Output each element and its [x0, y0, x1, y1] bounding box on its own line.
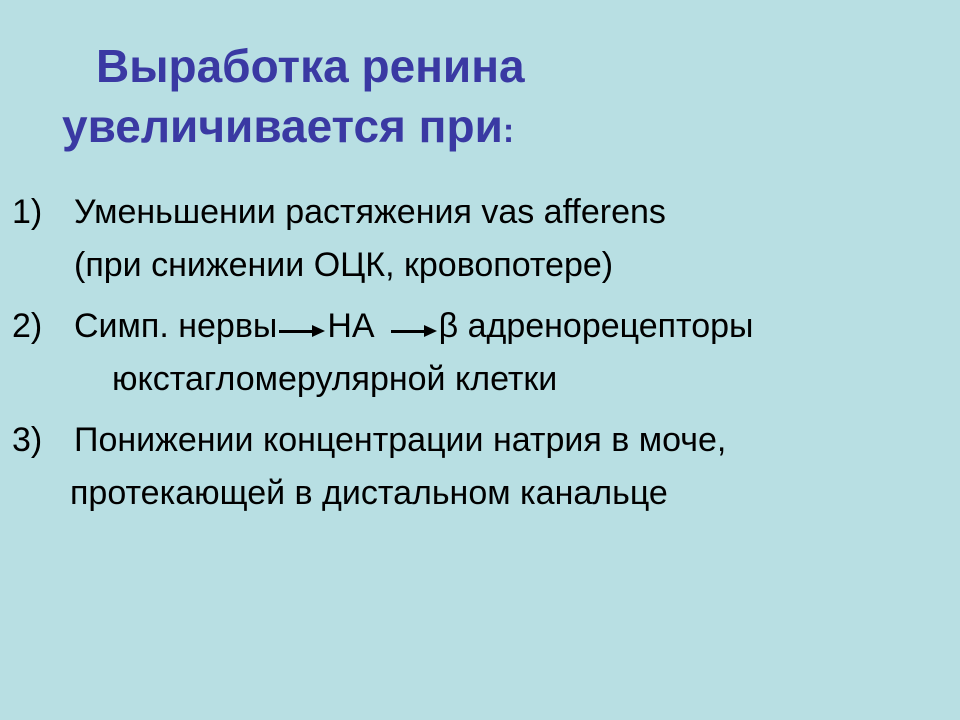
title-colon: :: [503, 112, 514, 150]
list-gap-2: [0, 406, 960, 414]
list-item-1-number: 1): [12, 186, 66, 239]
title-line-1: Выработка ренина: [0, 36, 960, 96]
list-item-2-line-2: юкстагломерулярной клетки: [0, 353, 960, 406]
arrow-right-icon-1: [279, 323, 325, 339]
list-item-1-line-1: Уменьшении растяжения vas afferens: [0, 186, 960, 239]
list-item-2-text-part-1: Симп. нервы: [74, 307, 277, 345]
title-line-2-text: увеличивается при: [62, 100, 503, 152]
list-item-3: 3) Понижении концентрации натрия в моче,…: [0, 414, 960, 520]
numbered-list: 1) Уменьшении растяжения vas afferens (п…: [0, 186, 960, 520]
list-item-1-line-2: (при снижении ОЦК, кровопотере): [0, 239, 960, 292]
list-item-2: 2) Симп. нервыНАβ адренорецепторы юкстаг…: [0, 300, 960, 406]
list-item-1: 1) Уменьшении растяжения vas afferens (п…: [0, 186, 960, 292]
list-gap-1: [0, 292, 960, 300]
slide-title: Выработка ренина увеличивается при:: [0, 36, 960, 161]
arrow-head: [312, 325, 325, 337]
list-item-2-number: 2): [12, 300, 66, 353]
list-item-3-line-2: протекающей в дистальном канальце: [0, 467, 960, 520]
list-item-3-number: 3): [12, 414, 66, 467]
slide-canvas: Выработка ренина увеличивается при: 1) У…: [0, 0, 960, 720]
arrow-right-icon-2: [391, 323, 437, 339]
title-line-2: увеличивается при:: [0, 96, 960, 161]
list-item-2-text-part-3: β адренорецепторы: [439, 307, 754, 345]
list-item-2-text-part-2: НА: [327, 307, 374, 345]
list-item-2-line-1: Симп. нервыНАβ адренорецепторы: [0, 300, 960, 353]
list-item-3-line-1: Понижении концентрации натрия в моче,: [0, 414, 960, 467]
arrow-head: [424, 325, 437, 337]
